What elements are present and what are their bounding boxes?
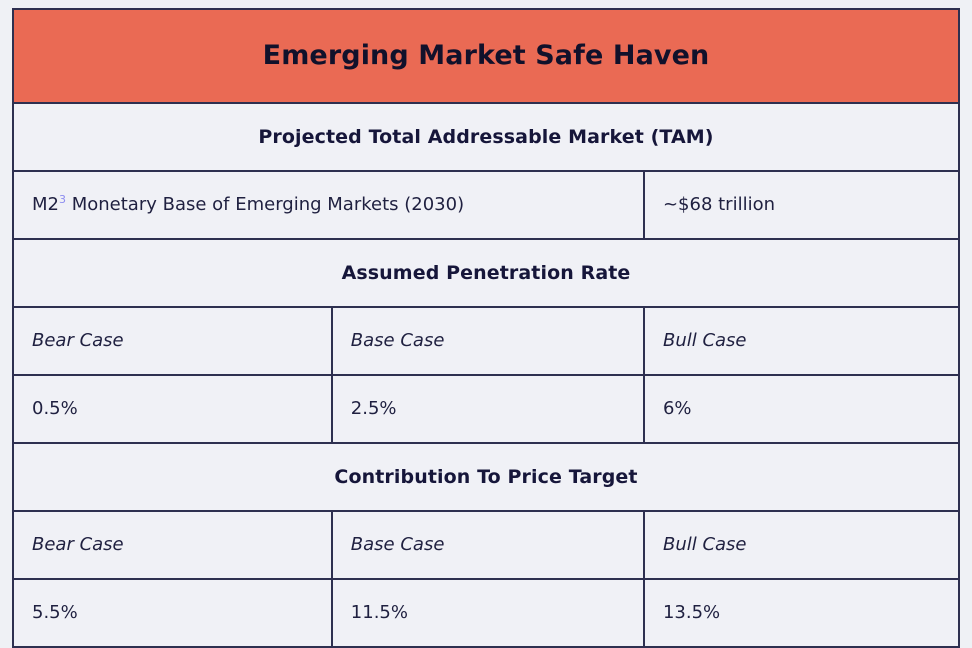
penetration-base-case-value: 2.5% (351, 398, 397, 419)
penetration-bear-case-value: 0.5% (32, 398, 78, 419)
tam-value-row: M23 Monetary Base of Emerging Markets (2… (13, 171, 959, 239)
contribution-section-header-label: Contribution To Price Target (334, 466, 637, 488)
penetration-bull-case-label-cell: Bull Case (644, 307, 959, 375)
contribution-base-case-label-cell: Base Case (332, 511, 644, 579)
contribution-value-row: 5.5% 11.5% 13.5% (13, 579, 959, 647)
contribution-bull-case-value-cell: 13.5% (644, 579, 959, 647)
table-title-cell: Emerging Market Safe Haven (13, 9, 959, 103)
tam-metric-label-prefix: M2 (32, 194, 59, 215)
contribution-bear-case-label-cell: Bear Case (13, 511, 332, 579)
contribution-base-case-value: 11.5% (351, 602, 408, 623)
penetration-base-case-label-cell: Base Case (332, 307, 644, 375)
tam-metric-value-cell: ~$68 trillion (644, 171, 959, 239)
penetration-bear-case-value-cell: 0.5% (13, 375, 332, 443)
contribution-section-header-cell: Contribution To Price Target (13, 443, 959, 511)
contribution-base-case-value-cell: 11.5% (332, 579, 644, 647)
tam-metric-label: M23 Monetary Base of Emerging Markets (2… (32, 194, 464, 215)
tam-metric-label-suffix: Monetary Base of Emerging Markets (2030) (66, 194, 464, 215)
contribution-section-header-row: Contribution To Price Target (13, 443, 959, 511)
penetration-section-header-row: Assumed Penetration Rate (13, 239, 959, 307)
tam-metric-label-cell: M23 Monetary Base of Emerging Markets (2… (13, 171, 644, 239)
footnote-reference-link[interactable]: 3 (59, 193, 66, 206)
tam-metric-value: ~$68 trillion (663, 194, 775, 215)
contribution-case-label-row: Bear Case Base Case Bull Case (13, 511, 959, 579)
penetration-section-header-cell: Assumed Penetration Rate (13, 239, 959, 307)
contribution-bull-case-value: 13.5% (663, 602, 720, 623)
tam-section-header-cell: Projected Total Addressable Market (TAM) (13, 103, 959, 171)
penetration-bull-case-value: 6% (663, 398, 692, 419)
contribution-bear-case-value-cell: 5.5% (13, 579, 332, 647)
table-title: Emerging Market Safe Haven (263, 40, 710, 71)
penetration-base-case-value-cell: 2.5% (332, 375, 644, 443)
table-title-row: Emerging Market Safe Haven (13, 9, 959, 103)
contribution-bull-case-label: Bull Case (663, 534, 747, 555)
emerging-market-safe-haven-table: Emerging Market Safe Haven Projected Tot… (12, 8, 960, 648)
contribution-bull-case-label-cell: Bull Case (644, 511, 959, 579)
penetration-bear-case-label-cell: Bear Case (13, 307, 332, 375)
tam-section-header-label: Projected Total Addressable Market (TAM) (258, 126, 713, 148)
contribution-bear-case-label: Bear Case (32, 534, 124, 555)
contribution-bear-case-value: 5.5% (32, 602, 78, 623)
penetration-section-header-label: Assumed Penetration Rate (342, 262, 631, 284)
penetration-bull-case-value-cell: 6% (644, 375, 959, 443)
contribution-base-case-label: Base Case (351, 534, 445, 555)
penetration-bear-case-label: Bear Case (32, 330, 124, 351)
tam-section-header-row: Projected Total Addressable Market (TAM) (13, 103, 959, 171)
penetration-bull-case-label: Bull Case (663, 330, 747, 351)
table-container: Emerging Market Safe Haven Projected Tot… (0, 0, 972, 615)
penetration-case-label-row: Bear Case Base Case Bull Case (13, 307, 959, 375)
penetration-base-case-label: Base Case (351, 330, 445, 351)
penetration-value-row: 0.5% 2.5% 6% (13, 375, 959, 443)
